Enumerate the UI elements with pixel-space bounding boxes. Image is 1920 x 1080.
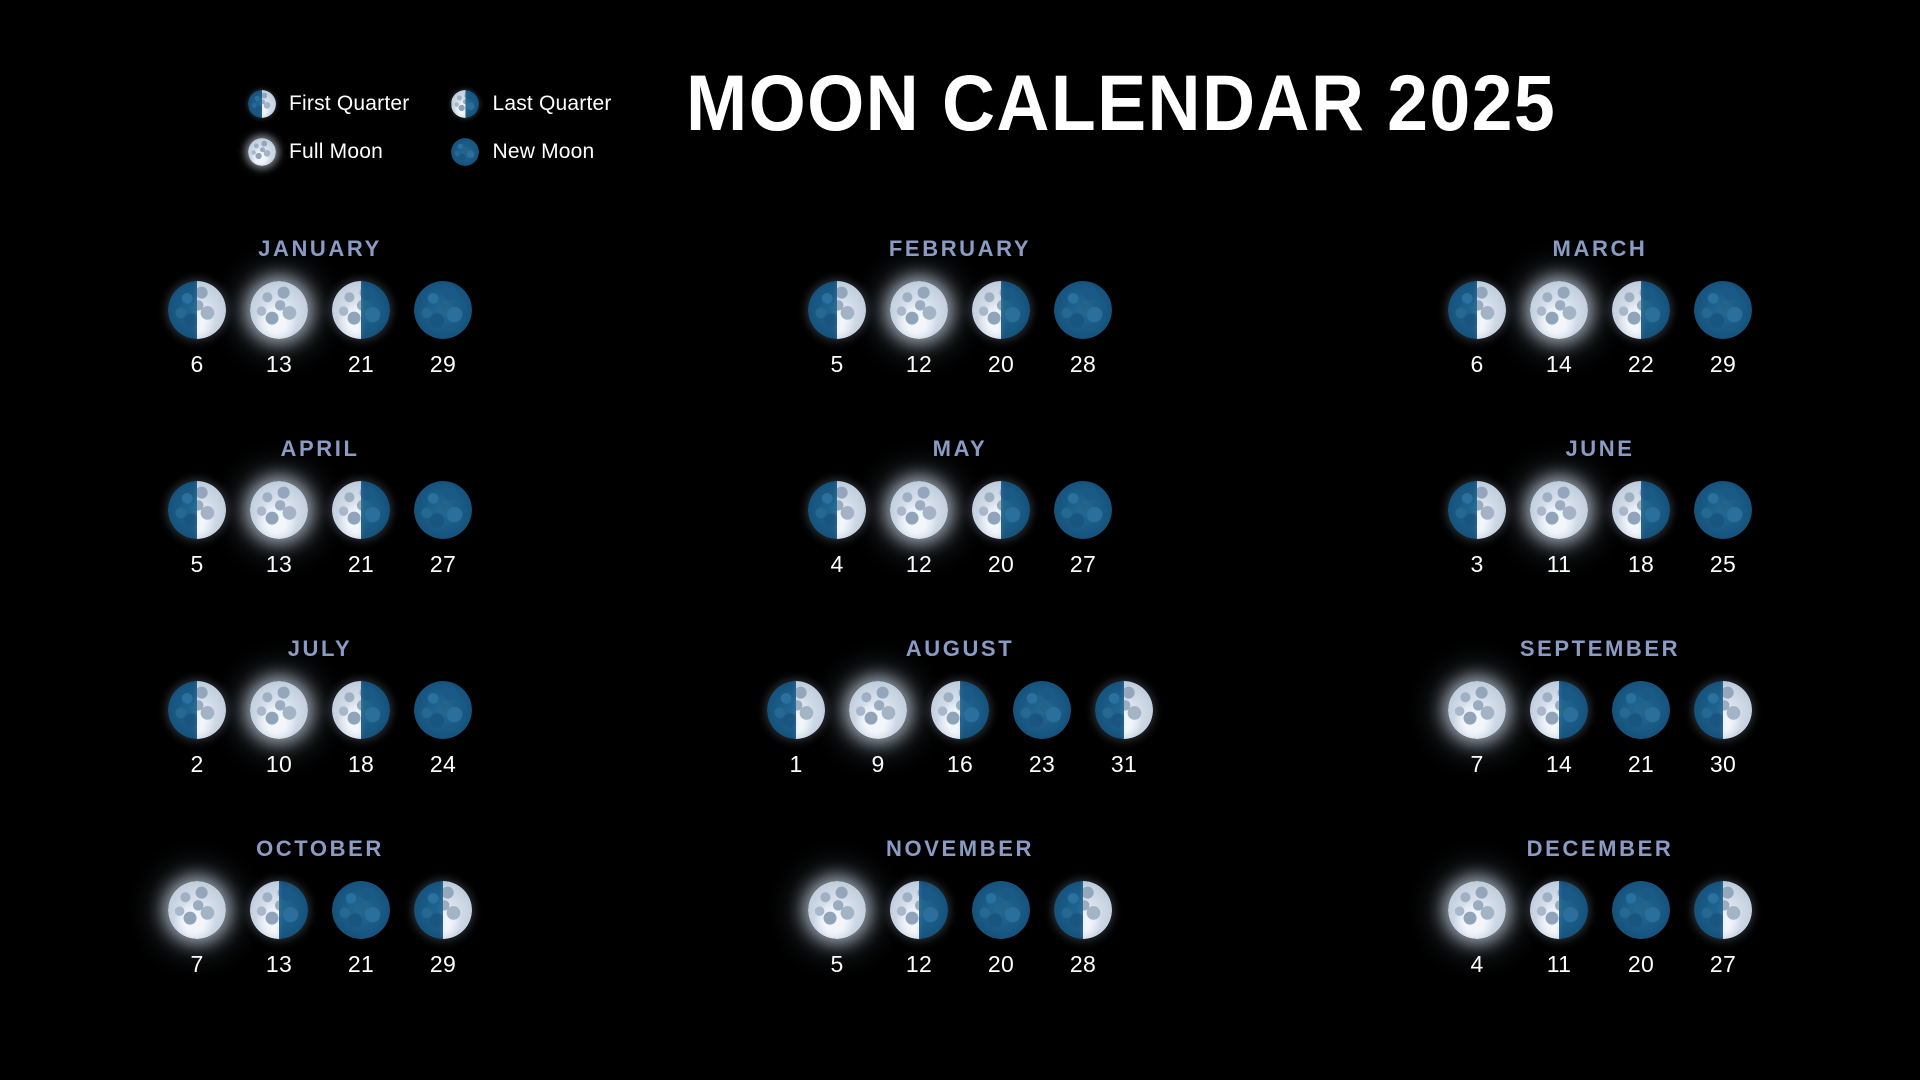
phase-day-number: 14 (1546, 751, 1572, 778)
moon-disc (414, 681, 472, 739)
phase-day-number: 4 (830, 551, 843, 578)
moon-disc (1448, 481, 1506, 539)
moon-new-icon (1612, 681, 1670, 739)
moon-disc (1054, 281, 1112, 339)
moon-disc (168, 881, 226, 939)
phase-day-number: 6 (1470, 351, 1483, 378)
month-name: SEPTEMBER (1520, 636, 1680, 662)
moon-disc (332, 681, 390, 739)
moon-disc (808, 481, 866, 539)
phase-entry[interactable]: 12 (890, 281, 948, 378)
moon-disc (1448, 881, 1506, 939)
phase-entry[interactable]: 20 (972, 281, 1030, 378)
moon-disc (808, 281, 866, 339)
moon-last-icon (1530, 881, 1588, 939)
moon-full-icon (890, 481, 948, 539)
phase-row: 2101824 (168, 681, 472, 778)
moon-first-icon (414, 881, 472, 939)
moon-last-icon (1530, 681, 1588, 739)
moon-first-icon (248, 90, 276, 118)
moon-shadow-side (1694, 281, 1752, 339)
moon-disc (1694, 281, 1752, 339)
month-january: JANUARY6132129 (0, 236, 640, 436)
month-name: NOVEMBER (886, 836, 1034, 862)
moon-full-icon (849, 681, 907, 739)
moon-last-icon (1612, 481, 1670, 539)
phase-day-number: 29 (430, 951, 456, 978)
moon-new-icon (332, 881, 390, 939)
phase-day-number: 27 (430, 551, 456, 578)
phase-row: 5132127 (168, 481, 472, 578)
moon-disc (168, 681, 226, 739)
phase-day-number: 21 (1628, 751, 1654, 778)
moon-disc (332, 481, 390, 539)
phase-entry[interactable]: 29 (414, 881, 472, 978)
phase-day-number: 11 (1547, 951, 1571, 978)
moon-full-icon (1530, 481, 1588, 539)
moon-disc (1013, 681, 1071, 739)
phase-entry[interactable]: 3 (1448, 481, 1506, 578)
moon-new-icon (1612, 881, 1670, 939)
month-july: JULY2101824 (0, 636, 640, 836)
moon-disc (250, 281, 308, 339)
moon-lit-side (1530, 281, 1588, 339)
phase-entry[interactable]: 4 (1448, 881, 1506, 978)
moon-first-icon (168, 281, 226, 339)
phase-entry[interactable]: 12 (890, 881, 948, 978)
moon-first-icon (1448, 281, 1506, 339)
phase-entry[interactable]: 18 (332, 681, 390, 778)
moon-shadow-side (1612, 681, 1670, 739)
moon-new-icon (414, 481, 472, 539)
phase-day-number: 27 (1710, 951, 1736, 978)
moon-shadow-side (1054, 481, 1112, 539)
months-grid: JANUARY6132129FEBRUARY5122028MARCH614222… (0, 236, 1920, 1036)
phase-row: 5122028 (808, 281, 1112, 378)
month-name: DECEMBER (1527, 836, 1674, 862)
phase-day-number: 12 (906, 551, 932, 578)
phase-day-number: 13 (266, 551, 292, 578)
legend-item-full: Full Moon (248, 138, 409, 166)
moon-disc (250, 881, 308, 939)
moon-first-icon (168, 681, 226, 739)
moon-disc (1530, 681, 1588, 739)
moon-disc (890, 481, 948, 539)
legend-label: Last Quarter (492, 92, 611, 116)
phase-entry[interactable]: 7 (168, 881, 226, 978)
moon-disc (1095, 681, 1153, 739)
phase-day-number: 21 (348, 551, 374, 578)
moon-shadow-side (414, 481, 472, 539)
moon-disc (1448, 681, 1506, 739)
moon-first-icon (1694, 881, 1752, 939)
moon-disc (849, 681, 907, 739)
moon-disc (1530, 481, 1588, 539)
moon-lit-side (849, 681, 907, 739)
phase-day-number: 28 (1070, 351, 1096, 378)
legend-item-first: First Quarter (248, 90, 409, 118)
legend-item-last: Last Quarter (451, 90, 611, 118)
phase-day-number: 5 (830, 351, 843, 378)
moon-last-icon (972, 281, 1030, 339)
legend-label: First Quarter (289, 92, 409, 116)
phase-entry[interactable]: 18 (1612, 481, 1670, 578)
moon-disc (414, 881, 472, 939)
phase-entry[interactable]: 27 (1054, 481, 1112, 578)
moon-disc (332, 281, 390, 339)
moon-disc (332, 881, 390, 939)
moon-first-icon (168, 481, 226, 539)
moon-last-icon (332, 281, 390, 339)
phase-day-number: 14 (1546, 351, 1572, 378)
phase-entry[interactable]: 1 (767, 681, 825, 778)
moon-disc (1530, 281, 1588, 339)
phase-entry[interactable]: 12 (890, 481, 948, 578)
phase-day-number: 31 (1111, 751, 1137, 778)
moon-disc (1694, 681, 1752, 739)
moon-lit-side (1448, 681, 1506, 739)
moon-disc (931, 681, 989, 739)
month-april: APRIL5132127 (0, 436, 640, 636)
moon-shadow-side (972, 881, 1030, 939)
phase-entry[interactable]: 20 (1612, 881, 1670, 978)
phase-day-number: 2 (190, 751, 203, 778)
phase-entry[interactable]: 14 (1530, 281, 1588, 378)
moon-full-icon (248, 138, 276, 166)
phase-day-number: 11 (1547, 551, 1571, 578)
month-name: APRIL (281, 436, 360, 462)
phase-row: 19162331 (767, 681, 1153, 778)
month-september: SEPTEMBER7142130 (1280, 636, 1920, 836)
legend-item-new: New Moon (451, 138, 611, 166)
moon-new-icon (451, 138, 479, 166)
phase-entry[interactable]: 13 (250, 481, 308, 578)
phase-day-number: 20 (988, 951, 1014, 978)
phase-entry[interactable]: 28 (1054, 281, 1112, 378)
moon-last-icon (332, 481, 390, 539)
moon-disc (808, 881, 866, 939)
phase-entry[interactable]: 5 (808, 281, 866, 378)
legend-label: Full Moon (289, 140, 383, 164)
phase-entry[interactable]: 4 (808, 481, 866, 578)
moon-lit-side (1530, 481, 1588, 539)
phase-row: 7132129 (168, 881, 472, 978)
phase-entry[interactable]: 13 (250, 281, 308, 378)
moon-shadow-side (1694, 481, 1752, 539)
phase-entry[interactable]: 29 (1694, 281, 1752, 378)
moon-lit-side (168, 881, 226, 939)
month-may: MAY4122027 (640, 436, 1280, 636)
phase-day-number: 22 (1628, 351, 1654, 378)
phase-day-number: 13 (266, 951, 292, 978)
moon-last-icon (332, 681, 390, 739)
phase-entry[interactable]: 27 (1694, 881, 1752, 978)
phase-entry[interactable]: 21 (332, 281, 390, 378)
phase-day-number: 21 (348, 951, 374, 978)
phase-entry[interactable]: 21 (1612, 681, 1670, 778)
phase-day-number: 28 (1070, 951, 1096, 978)
moon-disc (972, 881, 1030, 939)
moon-new-icon (972, 881, 1030, 939)
phase-entry[interactable]: 7 (1448, 681, 1506, 778)
moon-disc (1530, 881, 1588, 939)
moon-full-icon (1448, 681, 1506, 739)
month-name: JULY (288, 636, 353, 662)
legend: First QuarterLast QuarterFull MoonNew Mo… (248, 80, 612, 176)
phase-day-number: 20 (988, 351, 1014, 378)
moon-new-icon (1694, 281, 1752, 339)
moon-lit-side (808, 881, 866, 939)
moon-lit-side (250, 681, 308, 739)
phase-entry[interactable]: 20 (972, 481, 1030, 578)
moon-new-icon (414, 681, 472, 739)
month-august: AUGUST19162331 (640, 636, 1280, 836)
month-name: JANUARY (258, 236, 382, 262)
phase-day-number: 20 (988, 551, 1014, 578)
phase-row: 3111825 (1448, 481, 1752, 578)
phase-day-number: 16 (947, 751, 973, 778)
moon-new-icon (1694, 481, 1752, 539)
moon-last-icon (451, 90, 479, 118)
moon-disc (248, 138, 276, 166)
moon-lit-side (250, 281, 308, 339)
phase-day-number: 12 (906, 351, 932, 378)
phase-entry[interactable]: 24 (414, 681, 472, 778)
moon-shadow-side (414, 681, 472, 739)
moon-disc (972, 481, 1030, 539)
phase-day-number: 29 (430, 351, 456, 378)
phase-entry[interactable]: 29 (414, 281, 472, 378)
phase-entry[interactable]: 31 (1095, 681, 1153, 778)
moon-disc (250, 481, 308, 539)
moon-disc (1448, 281, 1506, 339)
phase-entry[interactable]: 21 (332, 881, 390, 978)
phase-day-number: 5 (830, 951, 843, 978)
phase-day-number: 25 (1710, 551, 1736, 578)
moon-disc (414, 481, 472, 539)
phase-entry[interactable]: 11 (1530, 481, 1588, 578)
phase-day-number: 18 (1628, 551, 1654, 578)
phase-day-number: 30 (1710, 751, 1736, 778)
moon-calendar-page: First QuarterLast QuarterFull MoonNew Mo… (0, 0, 1920, 1080)
moon-shadow-side (414, 281, 472, 339)
phase-entry[interactable]: 13 (250, 881, 308, 978)
moon-first-icon (767, 681, 825, 739)
moon-shadow-side (1013, 681, 1071, 739)
month-march: MARCH6142229 (1280, 236, 1920, 436)
phase-day-number: 7 (1470, 751, 1483, 778)
moon-new-icon (1054, 281, 1112, 339)
phase-entry[interactable]: 27 (414, 481, 472, 578)
month-name: AUGUST (906, 636, 1015, 662)
moon-shadow-side (332, 881, 390, 939)
moon-last-icon (890, 881, 948, 939)
phase-entry[interactable]: 2 (168, 681, 226, 778)
moon-full-icon (1530, 281, 1588, 339)
phase-day-number: 10 (266, 751, 292, 778)
phase-entry[interactable]: 11 (1530, 881, 1588, 978)
phase-row: 6142229 (1448, 281, 1752, 378)
page-title: MOON CALENDAR 2025 (686, 62, 1556, 145)
month-june: JUNE3111825 (1280, 436, 1920, 636)
month-name: OCTOBER (256, 836, 384, 862)
phase-entry[interactable]: 28 (1054, 881, 1112, 978)
moon-last-icon (972, 481, 1030, 539)
phase-day-number: 5 (190, 551, 203, 578)
moon-first-icon (808, 481, 866, 539)
moon-disc (451, 138, 479, 166)
moon-full-icon (250, 481, 308, 539)
phase-entry[interactable]: 9 (849, 681, 907, 778)
header: First QuarterLast QuarterFull MoonNew Mo… (0, 62, 1920, 192)
month-name: MARCH (1553, 236, 1648, 262)
phase-row: 4122027 (808, 481, 1112, 578)
moon-lit-side (1448, 881, 1506, 939)
moon-new-icon (1054, 481, 1112, 539)
phase-entry[interactable]: 10 (250, 681, 308, 778)
phase-day-number: 7 (190, 951, 203, 978)
moon-first-icon (808, 281, 866, 339)
phase-entry[interactable]: 23 (1013, 681, 1071, 778)
moon-full-icon (808, 881, 866, 939)
phase-day-number: 4 (1470, 951, 1483, 978)
month-october: OCTOBER7132129 (0, 836, 640, 1036)
phase-row: 5122028 (808, 881, 1112, 978)
month-december: DECEMBER4112027 (1280, 836, 1920, 1036)
phase-entry[interactable]: 22 (1612, 281, 1670, 378)
phase-day-number: 23 (1029, 751, 1055, 778)
moon-last-icon (1612, 281, 1670, 339)
moon-disc (1612, 681, 1670, 739)
moon-lit-side (890, 481, 948, 539)
month-name: MAY (933, 436, 988, 462)
moon-first-icon (1095, 681, 1153, 739)
phase-entry[interactable]: 6 (168, 281, 226, 378)
month-november: NOVEMBER5122028 (640, 836, 1280, 1036)
moon-new-icon (414, 281, 472, 339)
moon-lit-side (890, 281, 948, 339)
phase-row: 4112027 (1448, 881, 1752, 978)
moon-first-icon (1448, 481, 1506, 539)
moon-disc (890, 281, 948, 339)
phase-entry[interactable]: 20 (972, 881, 1030, 978)
phase-day-number: 21 (348, 351, 374, 378)
phase-day-number: 13 (266, 351, 292, 378)
moon-shadow-side (1054, 281, 1112, 339)
moon-full-icon (168, 881, 226, 939)
moon-last-icon (250, 881, 308, 939)
moon-disc (1694, 481, 1752, 539)
moon-disc (250, 681, 308, 739)
moon-new-icon (1013, 681, 1071, 739)
moon-first-icon (1694, 681, 1752, 739)
phase-entry[interactable]: 5 (808, 881, 866, 978)
moon-disc (1612, 881, 1670, 939)
phase-entry[interactable]: 16 (931, 681, 989, 778)
month-name: JUNE (1565, 436, 1634, 462)
moon-last-icon (931, 681, 989, 739)
phase-day-number: 9 (871, 751, 884, 778)
moon-disc (1054, 881, 1112, 939)
moon-disc (414, 281, 472, 339)
moon-disc (890, 881, 948, 939)
moon-shadow-side (451, 138, 479, 166)
moon-disc (451, 90, 479, 118)
phase-entry[interactable]: 21 (332, 481, 390, 578)
moon-first-icon (1054, 881, 1112, 939)
moon-disc (1694, 881, 1752, 939)
month-february: FEBRUARY5122028 (640, 236, 1280, 436)
phase-day-number: 24 (430, 751, 456, 778)
month-name: FEBRUARY (889, 236, 1031, 262)
moon-disc (1054, 481, 1112, 539)
phase-day-number: 18 (348, 751, 374, 778)
phase-row: 7142130 (1448, 681, 1752, 778)
phase-entry[interactable]: 14 (1530, 681, 1588, 778)
phase-day-number: 1 (789, 751, 802, 778)
moon-disc (1612, 281, 1670, 339)
moon-full-icon (890, 281, 948, 339)
moon-disc (767, 681, 825, 739)
legend-label: New Moon (492, 140, 594, 164)
moon-disc (168, 281, 226, 339)
phase-row: 6132129 (168, 281, 472, 378)
phase-entry[interactable]: 30 (1694, 681, 1752, 778)
moon-full-icon (1448, 881, 1506, 939)
phase-day-number: 20 (1628, 951, 1654, 978)
moon-shadow-side (1612, 881, 1670, 939)
phase-day-number: 29 (1710, 351, 1736, 378)
phase-day-number: 12 (906, 951, 932, 978)
moon-full-icon (250, 281, 308, 339)
phase-entry[interactable]: 5 (168, 481, 226, 578)
moon-full-icon (250, 681, 308, 739)
moon-disc (168, 481, 226, 539)
moon-lit-side (250, 481, 308, 539)
phase-entry[interactable]: 25 (1694, 481, 1752, 578)
moon-disc (972, 281, 1030, 339)
phase-day-number: 6 (190, 351, 203, 378)
phase-day-number: 3 (1470, 551, 1483, 578)
moon-disc (248, 90, 276, 118)
moon-disc (1612, 481, 1670, 539)
moon-lit-side (248, 138, 276, 166)
phase-day-number: 27 (1070, 551, 1096, 578)
phase-entry[interactable]: 6 (1448, 281, 1506, 378)
